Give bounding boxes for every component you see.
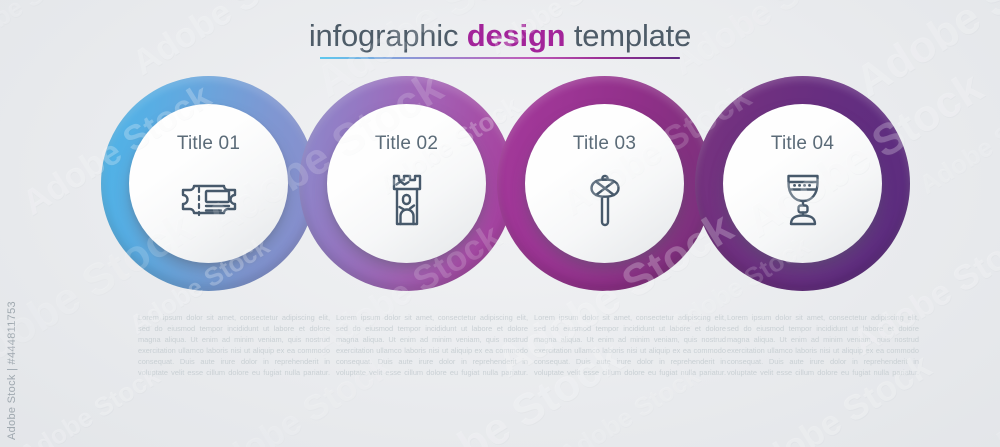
step-title-1: Title 01 — [177, 134, 240, 153]
step-description-1: Lorem ipsum dolor sit amet, consectetur … — [138, 312, 330, 390]
thor-hammer-icon — [574, 169, 636, 231]
step-node-1[interactable]: Title 01 — [101, 76, 316, 291]
step-disc-3[interactable]: Title 03 — [525, 104, 684, 263]
step-title-2: Title 02 — [375, 134, 438, 153]
step-node-4[interactable]: Title 04 — [695, 76, 910, 291]
infographic-canvas: infographic design template Title 01 — [0, 0, 1000, 447]
description-text: Lorem ipsum dolor sit amet, consectetur … — [336, 312, 528, 390]
heading-line: infographic design template — [0, 18, 1000, 54]
step-node-2[interactable]: Title 02 — [299, 76, 514, 291]
heading-underline-rule — [320, 57, 680, 59]
page-title: infographic design template — [0, 18, 1000, 54]
stock-id-watermark: Adobe Stock | #444811753 — [6, 301, 18, 440]
ticket-icon — [178, 169, 240, 231]
castle-tower-icon — [376, 169, 438, 231]
step-description-3: Lorem ipsum dolor sit amet, consectetur … — [534, 312, 726, 390]
heading-part-accent: design — [467, 18, 566, 53]
step-disc-2[interactable]: Title 02 — [327, 104, 486, 263]
heading-part-1: infographic — [309, 18, 467, 53]
steps-row: Title 01 Title 02 — [0, 76, 1000, 291]
step-disc-4[interactable]: Title 04 — [723, 104, 882, 263]
step-description-4: Lorem ipsum dolor sit amet, consectetur … — [727, 312, 919, 390]
step-disc-1[interactable]: Title 01 — [129, 104, 288, 263]
step-node-3[interactable]: Title 03 — [497, 76, 712, 291]
description-text: Lorem ipsum dolor sit amet, consectetur … — [138, 312, 330, 390]
description-text: Lorem ipsum dolor sit amet, consectetur … — [727, 312, 919, 390]
description-text: Lorem ipsum dolor sit amet, consectetur … — [534, 312, 726, 390]
step-title-3: Title 03 — [573, 134, 636, 153]
step-title-4: Title 04 — [771, 134, 834, 153]
goblet-icon — [772, 169, 834, 231]
heading-part-3: template — [565, 18, 691, 53]
description-columns: Lorem ipsum dolor sit amet, consectetur … — [0, 312, 1000, 422]
step-description-2: Lorem ipsum dolor sit amet, consectetur … — [336, 312, 528, 390]
